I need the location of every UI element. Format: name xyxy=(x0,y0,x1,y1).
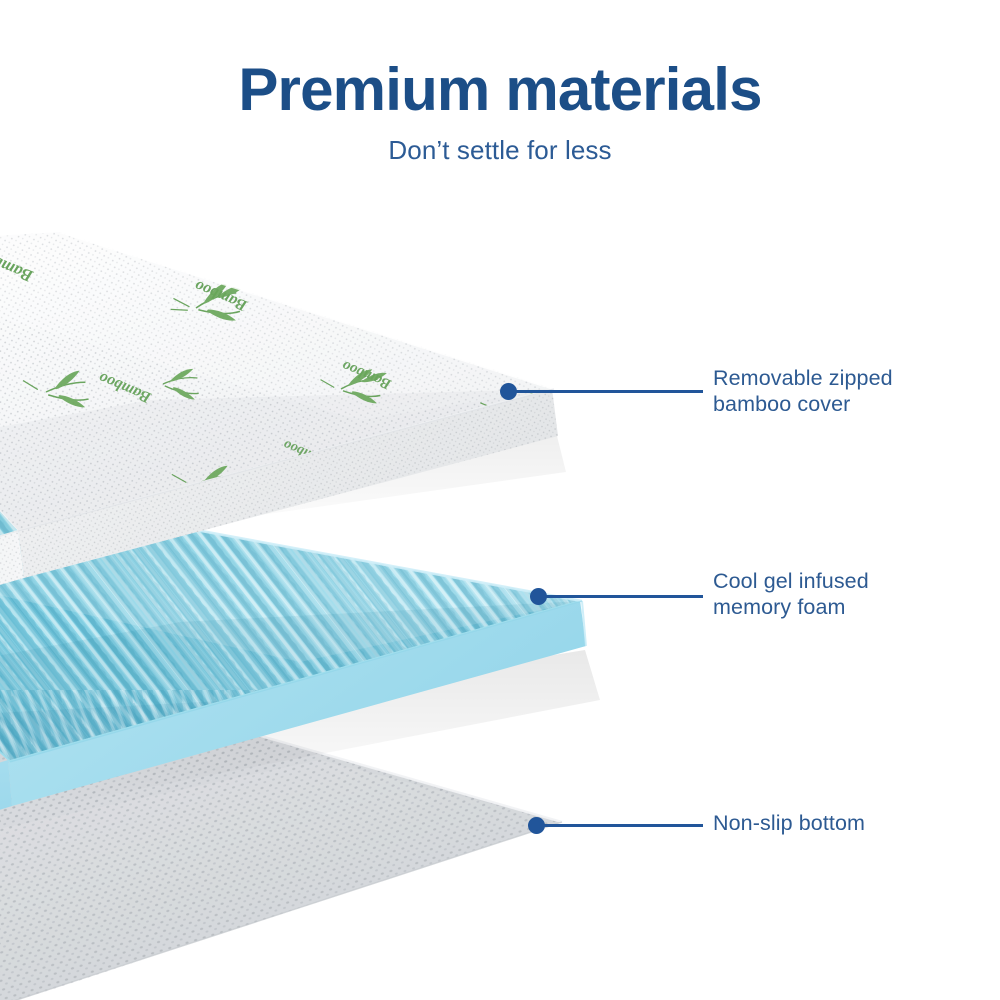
callout-non-slip-bottom: Non-slip bottom xyxy=(713,810,865,836)
leader-stroke-bamboo-cover xyxy=(508,390,703,393)
page-title: Premium materials xyxy=(0,0,1000,123)
page-subtitle: Don’t settle for less xyxy=(0,123,1000,166)
callout-bamboo-cover: Removable zipped bamboo cover xyxy=(713,365,893,417)
header: Premium materials Don’t settle for less xyxy=(0,0,1000,166)
callout-memory-foam: Cool gel infused memory foam xyxy=(713,568,869,620)
leader-stroke-non-slip-bottom xyxy=(536,824,703,827)
product-infographic: Premium materials Don’t settle for less xyxy=(0,0,1000,1000)
leader-stroke-memory-foam xyxy=(538,595,703,598)
